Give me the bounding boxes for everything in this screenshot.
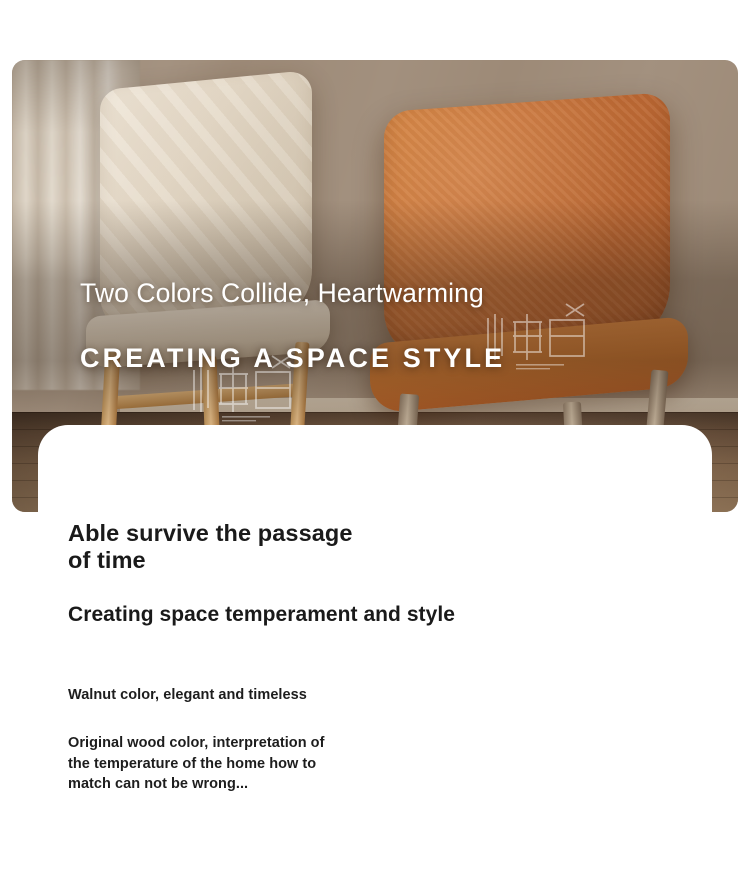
text-scrim-overlay bbox=[12, 200, 738, 430]
hero-title: Two Colors Collide, Heartwarming bbox=[80, 278, 484, 309]
product-detail-page: Two Colors Collide, Heartwarming CREATIN… bbox=[0, 0, 750, 876]
card-body-line-c: match can not be wrong... bbox=[68, 774, 324, 795]
card-subheading: Creating space temperament and style bbox=[68, 603, 455, 627]
card-heading-line-2: of time bbox=[68, 547, 353, 574]
card-heading: Able survive the passage of time bbox=[68, 520, 353, 574]
card-heading-line-1: Able survive the passage bbox=[68, 520, 353, 547]
content-card: Able survive the passage of time Creatin… bbox=[38, 425, 712, 876]
card-body-line-a: Original wood color, interpretation of bbox=[68, 733, 324, 754]
hero-subtitle: CREATING A SPACE STYLE bbox=[80, 343, 505, 374]
card-body-line-b: the temperature of the home how to bbox=[68, 754, 324, 775]
card-body-first: Walnut color, elegant and timeless bbox=[68, 687, 307, 703]
card-body-second: Original wood color, interpretation of t… bbox=[68, 733, 324, 795]
